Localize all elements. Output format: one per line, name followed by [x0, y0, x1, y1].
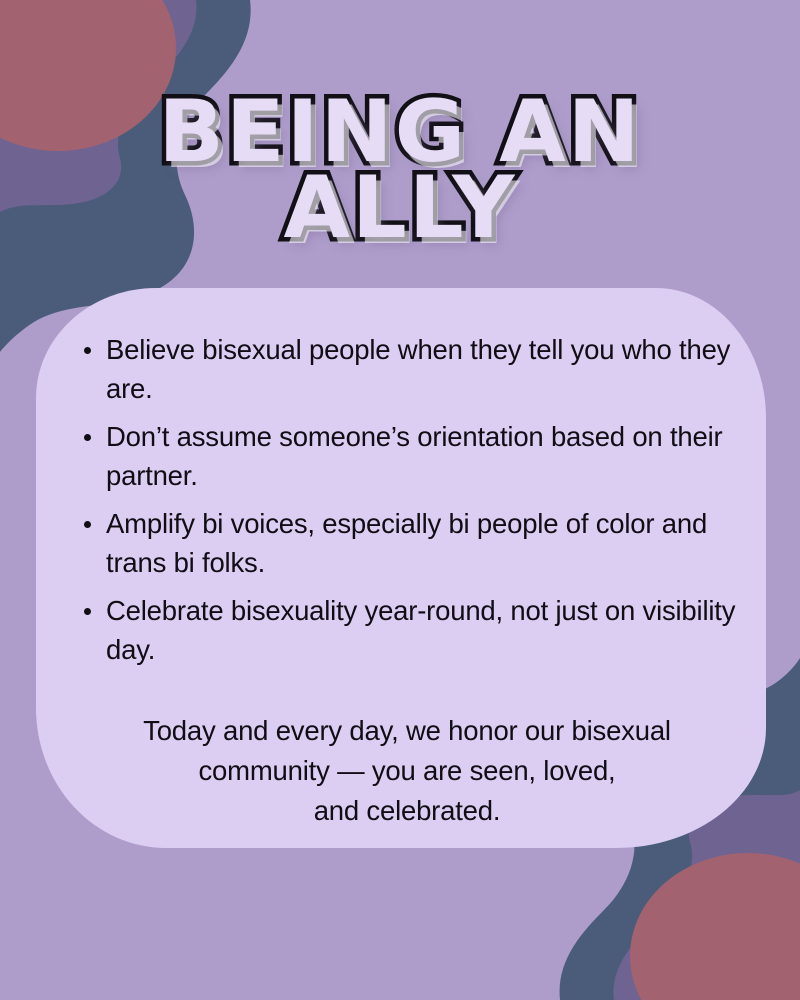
card-content: Believe bisexual people when they tell y… — [36, 288, 766, 848]
list-item: Celebrate bisexuality year-round, not ju… — [76, 591, 738, 669]
list-item: Believe bisexual people when they tell y… — [76, 330, 738, 408]
closing-statement: Today and every day, we honor our bisexu… — [76, 711, 738, 831]
list-item: Don’t assume someone’s orientation based… — [76, 417, 738, 495]
list-item: Amplify bi voices, especially bi people … — [76, 504, 738, 582]
ally-tips-list: Believe bisexual people when they tell y… — [76, 330, 738, 669]
page-title: BEING AN ALLY — [0, 96, 800, 246]
closing-line-3: and celebrated. — [86, 791, 728, 831]
closing-line-1: Today and every day, we honor our bisexu… — [86, 711, 728, 751]
poster-canvas: BEING AN ALLY Believe bisexual people wh… — [0, 0, 800, 1000]
closing-line-2: community — you are seen, loved, — [86, 751, 728, 791]
rose-circle-bottom-right — [630, 853, 800, 1000]
title-line-2: ALLY — [0, 172, 800, 246]
